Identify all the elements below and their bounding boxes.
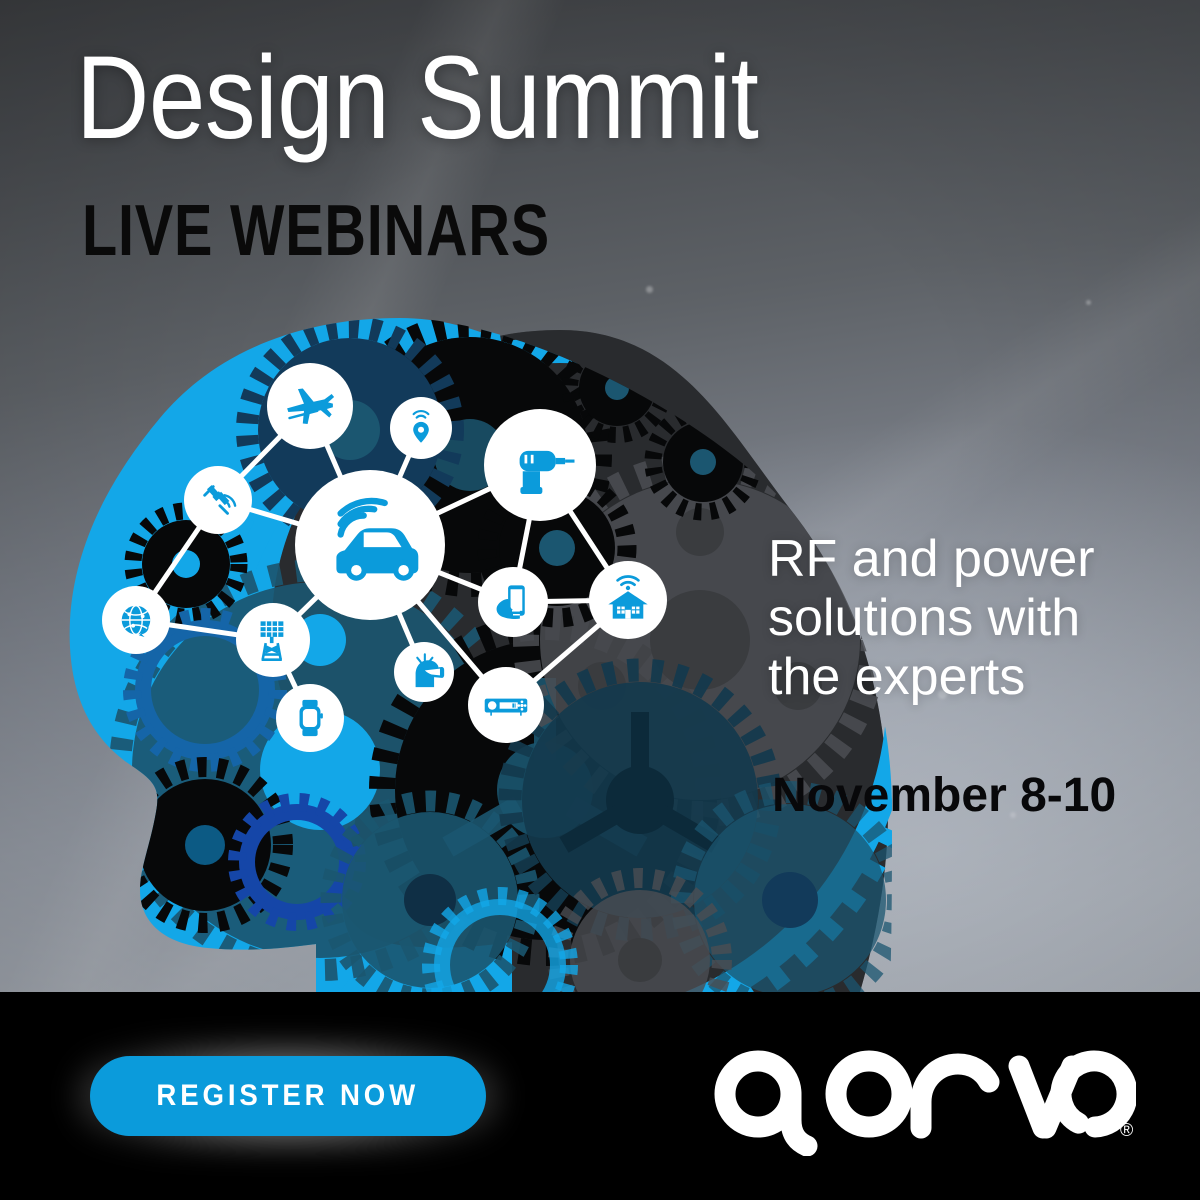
- tagline-line-3: the experts: [768, 648, 1168, 707]
- location-pin-wifi-icon: [390, 397, 452, 459]
- event-dates: November 8-10: [772, 770, 1116, 823]
- fighter-jet-icon: [267, 363, 353, 449]
- cell-tower-icon: [236, 603, 310, 677]
- tagline: RF and power solutions with the experts: [768, 530, 1168, 706]
- smartphone-in-hand-icon: [478, 567, 548, 637]
- icon-circle-background: [184, 466, 252, 534]
- tagline-line-1: RF and power: [768, 530, 1168, 589]
- vr-headset-icon: [394, 642, 454, 702]
- smart-home-wifi-icon: [589, 561, 667, 639]
- page-title: Design Summit: [76, 38, 758, 158]
- page-subtitle: LIVE WEBINARS: [82, 195, 550, 267]
- registered-trademark-symbol: ®: [1120, 1120, 1133, 1140]
- power-drill-icon: [484, 409, 596, 521]
- qorvo-wordmark: ®: [706, 1036, 1136, 1156]
- register-now-label: REGISTER NOW: [157, 1079, 420, 1113]
- global-network-icon: [102, 586, 170, 654]
- design-summit-banner: Design Summit LIVE WEBINARS RF and power…: [0, 0, 1200, 1200]
- smartwatch-icon: [276, 684, 344, 752]
- set-top-box-icon: [468, 667, 544, 743]
- register-now-button[interactable]: REGISTER NOW: [90, 1056, 486, 1136]
- qorvo-logo[interactable]: ®: [706, 1036, 1136, 1156]
- connected-car-icon: [295, 470, 445, 620]
- tagline-line-2: solutions with: [768, 589, 1168, 648]
- gear-grey-bottomright: [558, 878, 722, 992]
- satellite-icon: [184, 466, 252, 534]
